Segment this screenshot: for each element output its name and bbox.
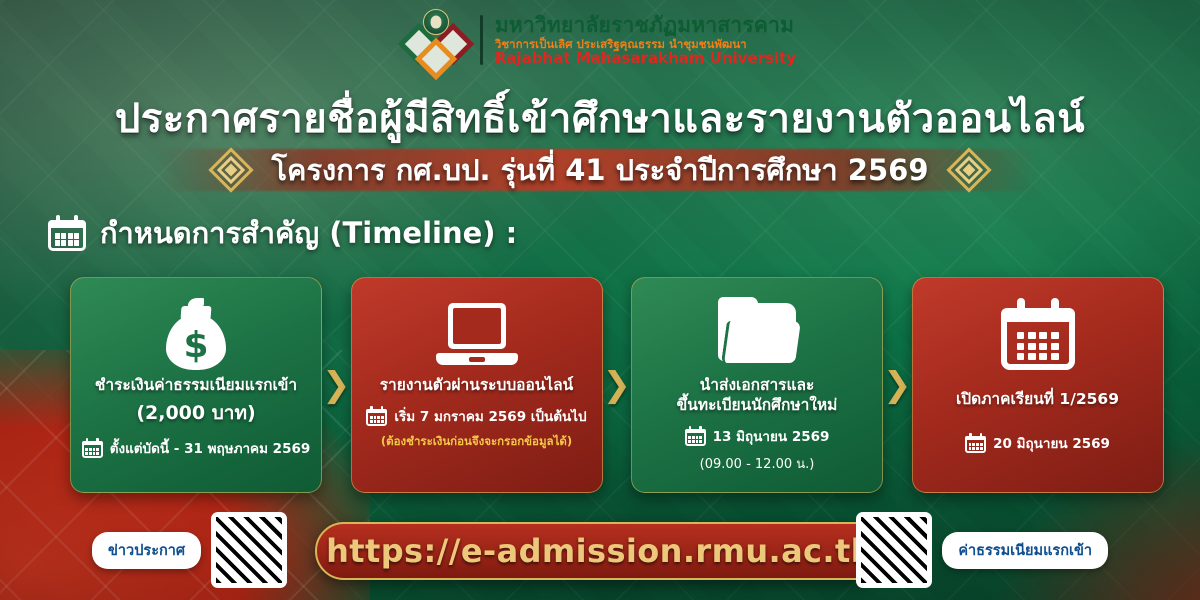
rmu-seal-icon [404, 9, 468, 71]
qr-group-news: ข่าวประกาศ [92, 512, 287, 588]
calendar-icon [366, 406, 387, 426]
card-title: รายงานตัวผ่านระบบออนไลน์ [380, 376, 574, 396]
qr-label-fee: ค่าธรรมเนียมแรกเข้า [942, 532, 1108, 569]
card-title: ชำระเงินค่าธรรมเนียมแรกเข้า [95, 376, 297, 396]
money-bag-icon: $ [162, 292, 230, 376]
card-date-row: ตั้งแต่บัดนี้ - 31 พฤษภาคม 2569 [82, 437, 311, 459]
timeline-card-payment[interactable]: $ ชำระเงินค่าธรรมเนียมแรกเข้า (2,000 บาท… [70, 277, 322, 493]
calendar-icon [685, 426, 706, 446]
chevron-right-icon: ❯ [322, 277, 351, 493]
page-title: ประกาศรายชื่อผู้มีสิทธิ์เข้าศึกษาและรายง… [0, 86, 1200, 150]
university-name-th: มหาวิทยาลัยราชภัฏมหาสารคาม [495, 14, 796, 36]
card-title: นำส่งเอกสารและ ขึ้นทะเบียนนักศึกษาใหม่ [677, 376, 838, 416]
thai-ornament-icon-right [947, 148, 991, 192]
footer: ข่าวประกาศ https://e-admission.rmu.ac.th… [0, 500, 1200, 600]
card-date-text: ตั้งแต่บัดนี้ - 31 พฤษภาคม 2569 [110, 437, 311, 459]
admission-url-text: https://e-admission.rmu.ac.th [326, 532, 874, 570]
card-date-text: 20 มิถุนายน 2569 [993, 432, 1110, 454]
calendar-icon [965, 433, 986, 453]
timeline-card-semester-open[interactable]: เปิดภาคเรียนที่ 1/2569 20 มิถุนายน 2569 [912, 277, 1164, 493]
logo-divider [480, 15, 483, 65]
calendar-big-icon [1001, 292, 1075, 376]
timeline-card-documents[interactable]: นำส่งเอกสารและ ขึ้นทะเบียนนักศึกษาใหม่ 1… [631, 277, 883, 493]
logo-seal-circle [423, 9, 449, 35]
qr-code-icon[interactable] [856, 512, 932, 588]
card-date-row: 13 มิถุนายน 2569 [685, 425, 830, 447]
university-header: มหาวิทยาลัยราชภัฏมหาสารคาม วิชาการเป็นเล… [0, 4, 1200, 76]
subtitle-text: โครงการ กศ.บป. รุ่นที่ 41 ประจำปีการศึกษ… [271, 147, 928, 193]
timeline-cards: $ ชำระเงินค่าธรรมเนียมแรกเข้า (2,000 บาท… [70, 277, 1130, 493]
card-date-text: เริ่ม 7 มกราคม 2569 เป็นต้นไป [394, 405, 586, 427]
card-note: (ต้องชำระเงินก่อนจึงจะกรอกข้อมูลได้) [381, 433, 572, 451]
university-name-en: Rajabhat Mahasarakham University [495, 51, 796, 67]
calendar-icon [48, 215, 86, 251]
university-name-block: มหาวิทยาลัยราชภัฏมหาสารคาม วิชาการเป็นเล… [495, 14, 796, 67]
qr-label-news: ข่าวประกาศ [92, 532, 201, 569]
timeline-heading: กำหนดการสำคัญ (Timeline) : [48, 210, 517, 256]
chevron-right-icon: ❯ [603, 277, 632, 493]
timeline-heading-label: กำหนดการสำคัญ (Timeline) : [100, 210, 517, 256]
card-date-row: 20 มิถุนายน 2569 [965, 432, 1110, 454]
thai-ornament-icon-left [209, 148, 253, 192]
qr-group-fee: ค่าธรรมเนียมแรกเข้า [856, 512, 1108, 588]
university-tagline: วิชาการเป็นเลิศ ประเสริฐคุณธรรม นำชุมชนพ… [495, 38, 796, 50]
card-date-row: เริ่ม 7 มกราคม 2569 เป็นต้นไป [366, 405, 586, 427]
chevron-right-icon: ❯ [883, 277, 912, 493]
card-amount: (2,000 บาท) [136, 398, 255, 428]
calendar-icon [82, 438, 103, 458]
card-sub-text: (09.00 - 12.00 น.) [700, 453, 815, 474]
card-title: เปิดภาคเรียนที่ 1/2569 [956, 390, 1119, 410]
laptop-icon [436, 292, 518, 376]
card-date-text: 13 มิถุนายน 2569 [713, 425, 830, 447]
subtitle-banner: โครงการ กศ.บป. รุ่นที่ 41 ประจำปีการศึกษ… [0, 143, 1200, 197]
qr-code-icon[interactable] [211, 512, 287, 588]
timeline-card-online-report[interactable]: รายงานตัวผ่านระบบออนไลน์ เริ่ม 7 มกราคม … [351, 277, 603, 493]
folder-icon [718, 292, 796, 376]
admission-url-button[interactable]: https://e-admission.rmu.ac.th [315, 522, 885, 580]
